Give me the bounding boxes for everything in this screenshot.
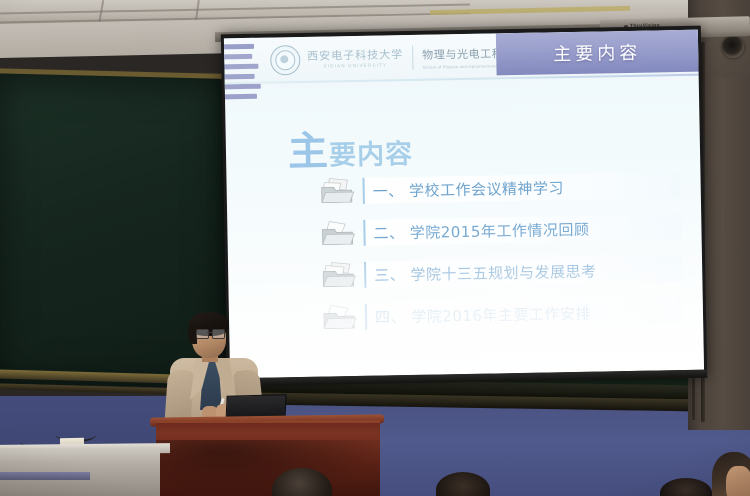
list-item-band: 三、 学院十三五规划与发展思考 bbox=[364, 256, 682, 288]
list-item-band: 二、 学院2015年工作情况回顾 bbox=[363, 214, 681, 246]
university-logo-block: 西安电子科技大学 XIDIAN UNIVERSITY 物理与光电工程学院 Sch… bbox=[270, 41, 527, 76]
list-item-label: 一、 学校工作会议精神学习 bbox=[365, 177, 565, 202]
agenda-list: 一、 学校工作会议精神学习 二、 学院2015年工作情况回顾 bbox=[320, 166, 683, 341]
university-seal-icon bbox=[270, 45, 301, 76]
folder-documents-icon bbox=[320, 177, 355, 206]
list-item[interactable]: 四、 学院2016年主要工作安排 bbox=[323, 292, 684, 337]
list-item-label: 二、 学院2015年工作情况回顾 bbox=[365, 218, 589, 243]
lecture-hall-photo: ThruVision 西安电子科技大学 XIDIAN UNIVER bbox=[0, 0, 750, 496]
audience-face bbox=[726, 466, 750, 496]
university-name-en: XIDIAN UNIVERSITY bbox=[307, 62, 403, 69]
deco-bar bbox=[225, 94, 257, 100]
slide-title: 主 要内容 bbox=[287, 117, 413, 177]
deco-bar bbox=[224, 44, 254, 50]
list-item-band: 四、 学院2016年主要工作安排 bbox=[365, 298, 683, 330]
shelf-strip bbox=[0, 472, 90, 480]
list-item-band: 一、 学校工作会议精神学习 bbox=[362, 172, 680, 204]
list-item[interactable]: 二、 学院2015年工作情况回顾 bbox=[321, 208, 682, 253]
university-name-block: 西安电子科技大学 XIDIAN UNIVERSITY bbox=[307, 49, 403, 69]
slide-title-rest: 要内容 bbox=[329, 132, 414, 173]
powerpoint-slide: 西安电子科技大学 XIDIAN UNIVERSITY 物理与光电工程学院 Sch… bbox=[224, 30, 704, 379]
list-item[interactable]: 三、 学院十三五规划与发展思考 bbox=[322, 250, 683, 295]
list-item-label: 四、 学院2016年主要工作安排 bbox=[367, 302, 591, 327]
folder-documents-icon bbox=[321, 219, 356, 248]
university-name-cn: 西安电子科技大学 bbox=[307, 49, 403, 63]
slide-banner: 主要内容 bbox=[496, 30, 699, 76]
list-item[interactable]: 一、 学校工作会议精神学习 bbox=[320, 166, 681, 211]
projection-screen: 西安电子科技大学 XIDIAN UNIVERSITY 物理与光电工程学院 Sch… bbox=[221, 26, 707, 387]
folder-documents-icon bbox=[323, 303, 358, 332]
deco-bar bbox=[224, 54, 252, 60]
podium-shading bbox=[156, 440, 380, 496]
slide-title-first-char: 主 bbox=[287, 118, 329, 177]
deco-bar bbox=[224, 64, 258, 70]
list-item-label: 三、 学院十三五规划与发展思考 bbox=[366, 260, 597, 285]
speaker-icon bbox=[722, 36, 744, 58]
glasses-lens-left bbox=[196, 329, 209, 339]
deco-bar bbox=[225, 74, 255, 80]
glasses-icon bbox=[196, 329, 224, 337]
folder-documents-icon bbox=[322, 261, 357, 290]
deco-bar bbox=[225, 84, 261, 90]
logo-divider bbox=[412, 46, 413, 70]
glasses-lens-right bbox=[212, 329, 225, 339]
decorative-bars bbox=[224, 44, 267, 107]
slide-banner-title: 主要内容 bbox=[496, 30, 699, 76]
